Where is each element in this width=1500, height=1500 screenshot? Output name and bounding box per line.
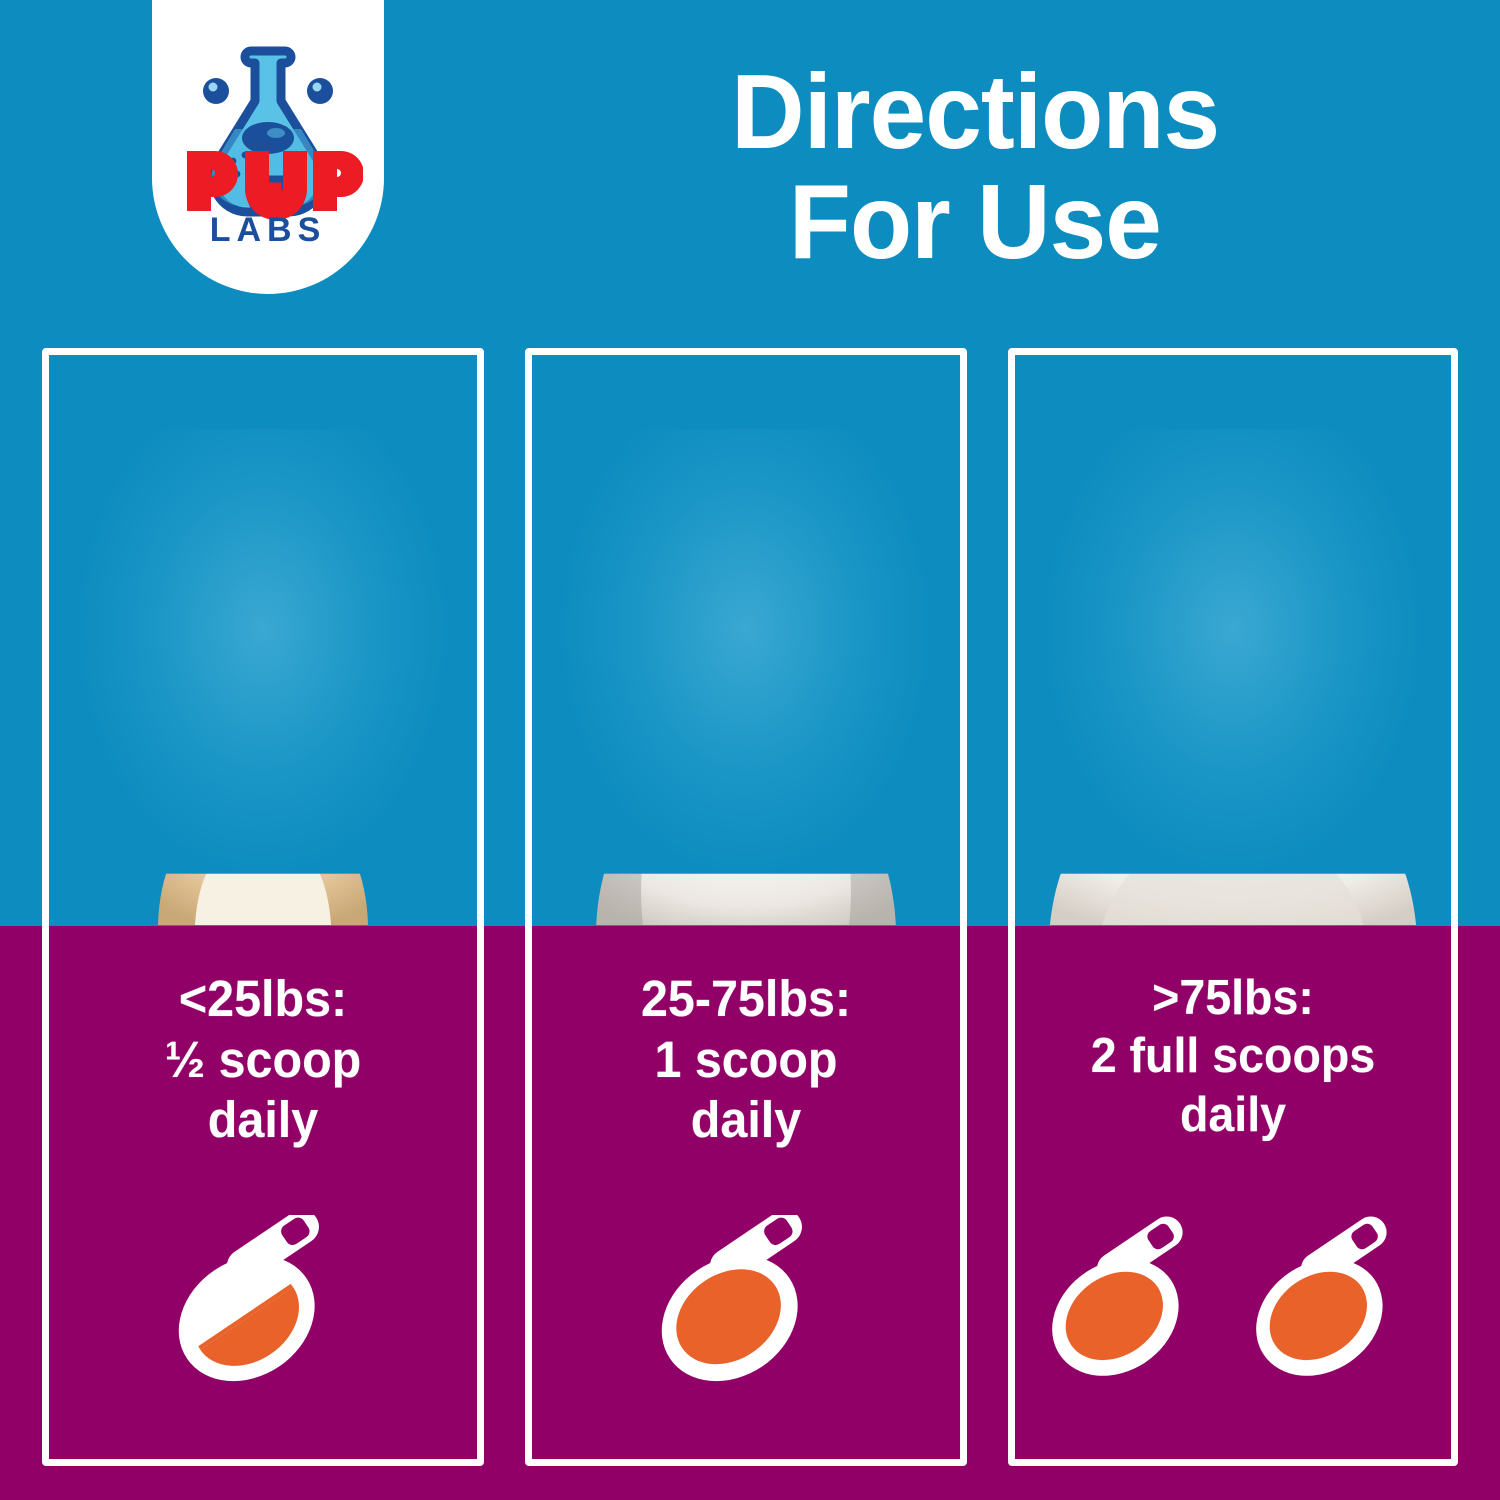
dosage-caption-large-dog: >75lbs: 2 full scoops daily	[1015, 925, 1451, 1466]
scoop-full-icon-1	[1031, 1215, 1231, 1395]
weight-label-medium-dog: 25-75lbs:	[543, 969, 950, 1030]
weight-label-small-dog: <25lbs:	[60, 969, 467, 1030]
siberian-husky-photo	[532, 355, 960, 925]
saint-bernard-photo	[1015, 355, 1451, 925]
dose-text-large-dog: >75lbs: 2 full scoops daily	[1026, 969, 1440, 1144]
scoop-full-icon-2	[1235, 1215, 1435, 1395]
dose-line-1-medium-dog: 1 scoop	[543, 1030, 950, 1091]
scoop-group-large-dog	[1015, 1215, 1451, 1395]
dose-line-1-small-dog: ½ scoop	[60, 1030, 467, 1091]
scoop-group-medium-dog	[532, 1215, 960, 1395]
dose-line-2-small-dog: daily	[60, 1090, 467, 1151]
dose-line-2-medium-dog: daily	[543, 1090, 950, 1151]
dosage-panel-medium-dog: 25-75lbs: 1 scoop daily	[525, 348, 967, 1466]
dose-text-small-dog: <25lbs: ½ scoop daily	[60, 969, 467, 1151]
dose-line-2-large-dog: daily	[1026, 1086, 1440, 1144]
scoop-full-icon	[639, 1215, 854, 1395]
dosage-panel-small-dog: <25lbs: ½ scoop daily	[42, 348, 484, 1466]
dosage-caption-medium-dog: 25-75lbs: 1 scoop daily	[532, 925, 960, 1466]
dosage-caption-small-dog: <25lbs: ½ scoop daily	[49, 925, 477, 1466]
dose-line-1-large-dog: 2 full scoops	[1026, 1027, 1440, 1085]
dosage-panel-large-dog: >75lbs: 2 full scoops daily	[1008, 348, 1458, 1466]
scoop-half-icon	[156, 1215, 371, 1395]
weight-label-large-dog: >75lbs:	[1026, 969, 1440, 1027]
dosage-panels: <25lbs: ½ scoop daily	[0, 0, 1500, 1500]
scoop-group-small-dog	[49, 1215, 477, 1395]
french-bulldog-photo	[49, 355, 477, 925]
dose-text-medium-dog: 25-75lbs: 1 scoop daily	[543, 969, 950, 1151]
